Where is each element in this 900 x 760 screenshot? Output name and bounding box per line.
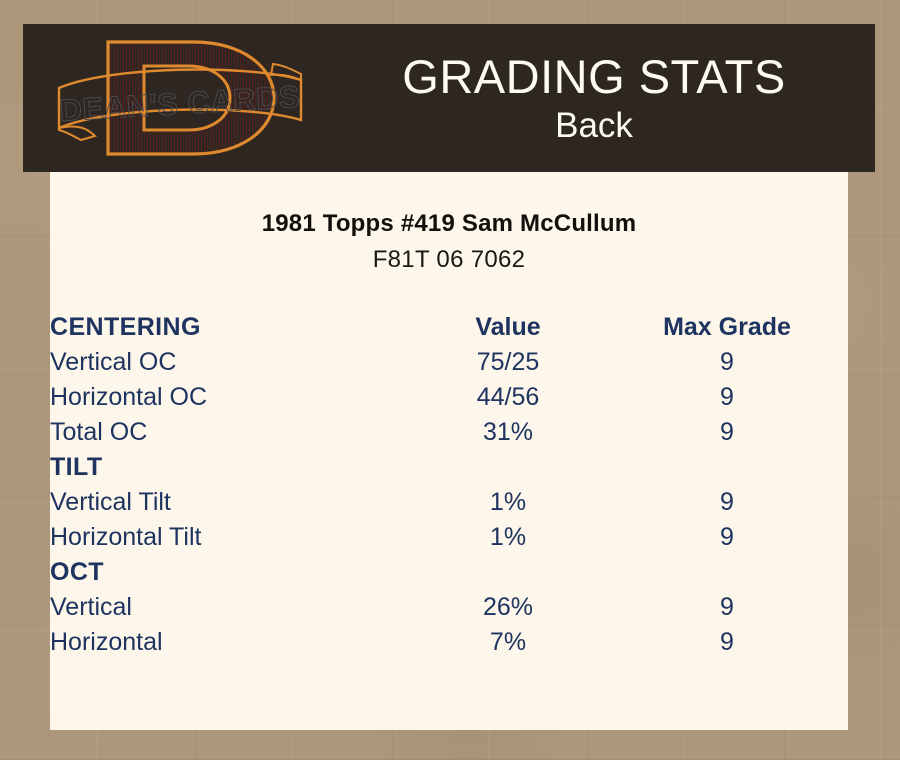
page-header: DEAN'S CARDS GRADING STATS Back — [23, 24, 875, 172]
stats-section-header-row: TILT — [50, 450, 848, 485]
stat-max-grade: 9 — [606, 380, 848, 415]
stat-value: 31% — [410, 415, 606, 450]
stats-table-body: CENTERINGValueMax GradeVertical OC75/259… — [50, 310, 848, 660]
table-row: Horizontal OC44/569 — [50, 380, 848, 415]
stat-value: 26% — [410, 590, 606, 625]
table-row: Horizontal7%9 — [50, 625, 848, 660]
header-title-block: GRADING STATS Back — [323, 24, 865, 172]
stat-label: Horizontal Tilt — [50, 520, 410, 555]
stat-label: Total OC — [50, 415, 410, 450]
deans-cards-logo[interactable]: DEAN'S CARDS — [51, 28, 309, 168]
stat-label: Vertical OC — [50, 345, 410, 380]
stat-label: Horizontal OC — [50, 380, 410, 415]
stat-max-grade: 9 — [606, 415, 848, 450]
screenshot-root: DEAN'S CARDS GRADING STATS Back 1981 Top… — [0, 0, 900, 760]
stat-max-grade: 9 — [606, 520, 848, 555]
stat-value: 1% — [410, 485, 606, 520]
stat-value: 75/25 — [410, 345, 606, 380]
stat-max-grade: 9 — [606, 485, 848, 520]
stat-value: 1% — [410, 520, 606, 555]
column-header-max-grade: Max Grade — [606, 310, 848, 345]
page-title: GRADING STATS — [402, 50, 785, 104]
page-subtitle: Back — [555, 106, 633, 146]
stats-section-header-row: OCT — [50, 555, 848, 590]
table-row: Vertical26%9 — [50, 590, 848, 625]
column-header-value: Value — [410, 310, 606, 345]
section-label: CENTERING — [50, 310, 410, 345]
stat-max-grade: 9 — [606, 625, 848, 660]
stats-section-header-row: CENTERINGValueMax Grade — [50, 310, 848, 345]
card-serial-number: F81T 06 7062 — [50, 246, 848, 274]
stat-value: 44/56 — [410, 380, 606, 415]
section-label: OCT — [50, 555, 410, 590]
stat-max-grade: 9 — [606, 345, 848, 380]
stat-label: Horizontal — [50, 625, 410, 660]
table-row: Vertical OC75/259 — [50, 345, 848, 380]
empty-cell — [606, 450, 848, 485]
card-title: 1981 Topps #419 Sam McCullum — [50, 210, 848, 238]
stat-value: 7% — [410, 625, 606, 660]
empty-cell — [606, 555, 848, 590]
table-row: Horizontal Tilt1%9 — [50, 520, 848, 555]
table-row: Vertical Tilt1%9 — [50, 485, 848, 520]
section-label: TILT — [50, 450, 410, 485]
stat-label: Vertical Tilt — [50, 485, 410, 520]
stat-label: Vertical — [50, 590, 410, 625]
empty-cell — [410, 450, 606, 485]
grading-stats-table: CENTERINGValueMax GradeVertical OC75/259… — [50, 310, 848, 660]
stats-panel: 1981 Topps #419 Sam McCullum F81T 06 706… — [50, 172, 848, 730]
stat-max-grade: 9 — [606, 590, 848, 625]
table-row: Total OC31%9 — [50, 415, 848, 450]
empty-cell — [410, 555, 606, 590]
